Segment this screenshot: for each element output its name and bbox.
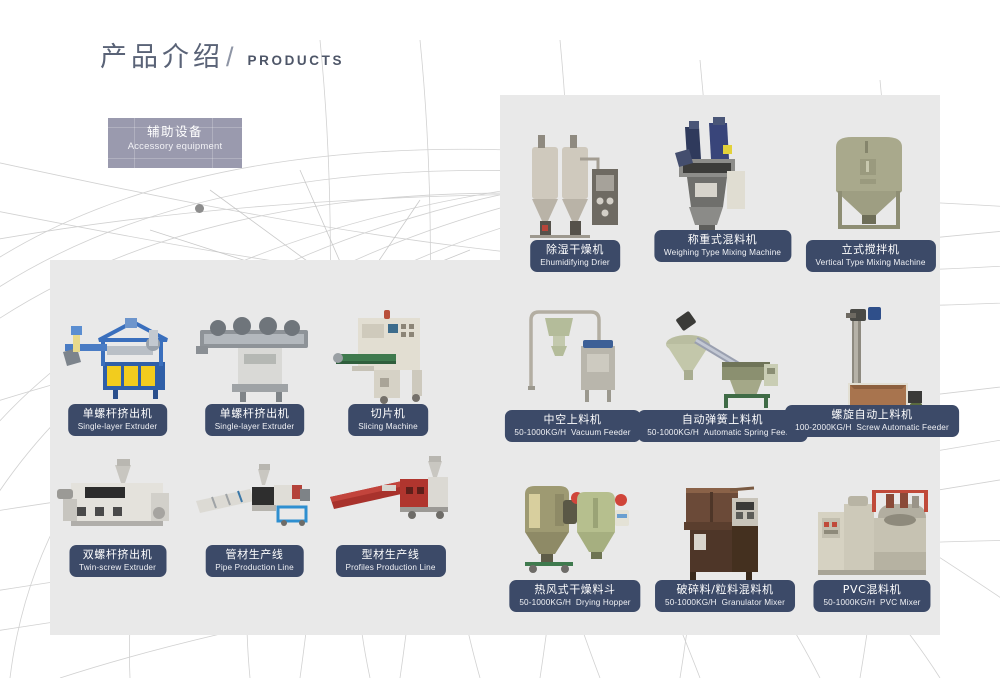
product-name-cn: 双螺杆挤出机 — [79, 548, 156, 562]
dehumidifying-drier-image — [520, 125, 630, 240]
product-cell[interactable]: 热风式干燥料斗 50-1000KG/H Drying Hopper — [515, 470, 635, 615]
product-name-en: Profiles Production Line — [345, 563, 435, 573]
product-label[interactable]: 单螺杆挤出机 Single-layer Extruder — [205, 404, 305, 436]
product-label[interactable]: 螺旋自动上料机 100-2000KG/H Screw Automatic Fee… — [785, 405, 959, 437]
product-name-cn: 破碎料/粒料混料机 — [665, 583, 785, 597]
product-name-en: Single-layer Extruder — [215, 422, 295, 432]
product-label[interactable]: PVC混料机 50-1000KG/H PVC Mixer — [813, 580, 930, 612]
page-title-cn: 产品介绍 — [100, 44, 224, 71]
product-label[interactable]: 型材生产线 Profiles Production Line — [335, 545, 445, 577]
pipe-production-line-image — [192, 455, 317, 550]
product-name-en: Pipe Production Line — [215, 563, 294, 573]
product-name-en: Slicing Machine — [358, 422, 418, 432]
product-label[interactable]: 立式搅拌机 Vertical Type Mixing Machine — [805, 240, 935, 272]
product-name-cn: 型材生产线 — [345, 548, 435, 562]
category-name-cn: 辅助设备 — [108, 124, 242, 139]
pvc-mixer-image — [812, 470, 932, 580]
product-cell[interactable]: 自动弹簧上料机 50-1000KG/H Automatic Spring Fee… — [660, 300, 785, 445]
product-catalog-page: 产品介绍 / PRODUCTS 辅助设备 Accessory equipment — [0, 0, 1000, 678]
product-name-en: 50-1000KG/H Drying Hopper — [519, 598, 630, 608]
product-cell[interactable]: 中空上料机 50-1000KG/H Vacuum Feeder — [515, 300, 630, 445]
product-name-cn: 中空上料机 — [514, 413, 630, 427]
product-name-en: Twin-screw Extruder — [79, 563, 156, 573]
product-name-en: 50-1000KG/H PVC Mixer — [823, 598, 920, 608]
page-title: 产品介绍 / PRODUCTS — [100, 44, 344, 71]
title-separator: / — [226, 44, 234, 71]
product-name-en: 50-1000KG/H Granulator Mixer — [665, 598, 785, 608]
product-cell[interactable]: PVC混料机 50-1000KG/H PVC Mixer — [812, 470, 932, 615]
drying-hopper-image — [515, 470, 635, 580]
slicing-machine-image — [328, 300, 448, 410]
granulator-mixer-image — [670, 470, 780, 580]
automatic-spring-feeder-image — [660, 300, 785, 412]
product-cell[interactable]: 除湿干燥机 Ehumidifying Drier — [520, 125, 630, 270]
product-label[interactable]: 自动弹簧上料机 50-1000KG/H Automatic Spring Fee… — [637, 410, 808, 442]
product-name-cn: 除湿干燥机 — [540, 243, 610, 257]
product-name-cn: 单螺杆挤出机 — [215, 407, 295, 421]
page-title-en: PRODUCTS — [248, 53, 345, 71]
product-name-cn: 自动弹簧上料机 — [647, 413, 798, 427]
category-accessory-equipment[interactable]: 辅助设备 Accessory equipment — [108, 118, 242, 168]
product-name-cn: 单螺杆挤出机 — [78, 407, 158, 421]
single-layer-extruder-image — [192, 300, 317, 410]
product-name-cn: PVC混料机 — [823, 583, 920, 597]
product-cell[interactable]: 管材生产线 Pipe Production Line — [192, 455, 317, 595]
product-name-en: Weighing Type Mixing Machine — [664, 248, 781, 258]
category-name-en: Accessory equipment — [108, 141, 242, 152]
product-label[interactable]: 双螺杆挤出机 Twin-screw Extruder — [69, 545, 166, 577]
product-cell[interactable]: 破碎料/粒料混料机 50-1000KG/H Granulator Mixer — [670, 470, 780, 615]
product-label[interactable]: 破碎料/粒料混料机 50-1000KG/H Granulator Mixer — [655, 580, 795, 612]
vacuum-feeder-image — [515, 300, 630, 412]
product-cell[interactable]: 型材生产线 Profiles Production Line — [328, 455, 453, 595]
weighing-mixing-machine-image — [665, 115, 780, 240]
product-label[interactable]: 单螺杆挤出机 Single-layer Extruder — [68, 404, 168, 436]
product-label[interactable]: 切片机 Slicing Machine — [348, 404, 428, 436]
product-cell[interactable]: 单螺杆挤出机 Single-layer Extruder — [55, 300, 180, 450]
product-name-en: 100-2000KG/H Screw Automatic Feeder — [795, 423, 949, 433]
curve-node — [195, 204, 204, 213]
product-cell[interactable]: 切片机 Slicing Machine — [328, 300, 448, 450]
product-label[interactable]: 中空上料机 50-1000KG/H Vacuum Feeder — [504, 410, 640, 442]
product-label[interactable]: 除湿干燥机 Ehumidifying Drier — [530, 240, 620, 272]
product-cell[interactable]: 双螺杆挤出机 Twin-screw Extruder — [55, 455, 180, 595]
product-name-en: Single-layer Extruder — [78, 422, 158, 432]
product-name-cn: 切片机 — [358, 407, 418, 421]
product-name-cn: 称重式混料机 — [664, 233, 781, 247]
twin-screw-extruder-image — [55, 455, 180, 550]
product-cell[interactable]: 螺旋自动上料机 100-2000KG/H Screw Automatic Fee… — [812, 295, 932, 445]
product-cell[interactable]: 立式搅拌机 Vertical Type Mixing Machine — [818, 125, 923, 270]
vertical-mixing-machine-image — [818, 125, 923, 240]
product-label[interactable]: 管材生产线 Pipe Production Line — [205, 545, 304, 577]
single-layer-extruder-image — [55, 300, 180, 410]
product-name-cn: 螺旋自动上料机 — [795, 408, 949, 422]
product-name-en: Vertical Type Mixing Machine — [815, 258, 925, 268]
product-name-cn: 热风式干燥料斗 — [519, 583, 630, 597]
product-name-cn: 管材生产线 — [215, 548, 294, 562]
product-cell[interactable]: 单螺杆挤出机 Single-layer Extruder — [192, 300, 317, 450]
product-name-en: 50-1000KG/H Automatic Spring Feeder — [647, 428, 798, 438]
product-cell[interactable]: 称重式混料机 Weighing Type Mixing Machine — [665, 115, 780, 270]
profiles-production-line-image — [328, 455, 453, 550]
product-name-cn: 立式搅拌机 — [815, 243, 925, 257]
screw-automatic-feeder-image — [812, 295, 932, 412]
product-name-en: Ehumidifying Drier — [540, 258, 610, 268]
product-label[interactable]: 称重式混料机 Weighing Type Mixing Machine — [654, 230, 791, 262]
product-name-en: 50-1000KG/H Vacuum Feeder — [514, 428, 630, 438]
product-label[interactable]: 热风式干燥料斗 50-1000KG/H Drying Hopper — [509, 580, 640, 612]
